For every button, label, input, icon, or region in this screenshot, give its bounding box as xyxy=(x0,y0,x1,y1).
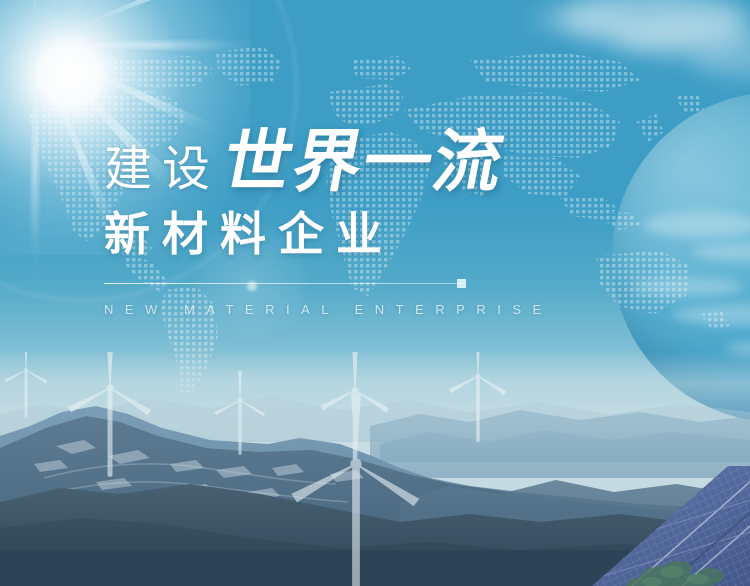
landscape-scene xyxy=(0,352,750,586)
hero-banner: 建设 世界一流 新材料企业 NEW MATERIAL ENTERPRISE xyxy=(0,0,750,586)
subtitle: NEW MATERIAL ENTERPRISE xyxy=(104,302,524,317)
headline-block: 建设 世界一流 新材料企业 NEW MATERIAL ENTERPRISE xyxy=(104,128,524,317)
headline-line-2: 新材料企业 xyxy=(104,208,524,261)
headline-prefix: 建设 xyxy=(104,146,220,194)
divider-end-cap xyxy=(457,279,466,288)
solar-panel-array xyxy=(470,436,750,586)
divider xyxy=(104,283,462,284)
headline-line-1: 建设 世界一流 xyxy=(104,128,524,204)
headline-emphasis: 世界一流 xyxy=(217,128,510,196)
